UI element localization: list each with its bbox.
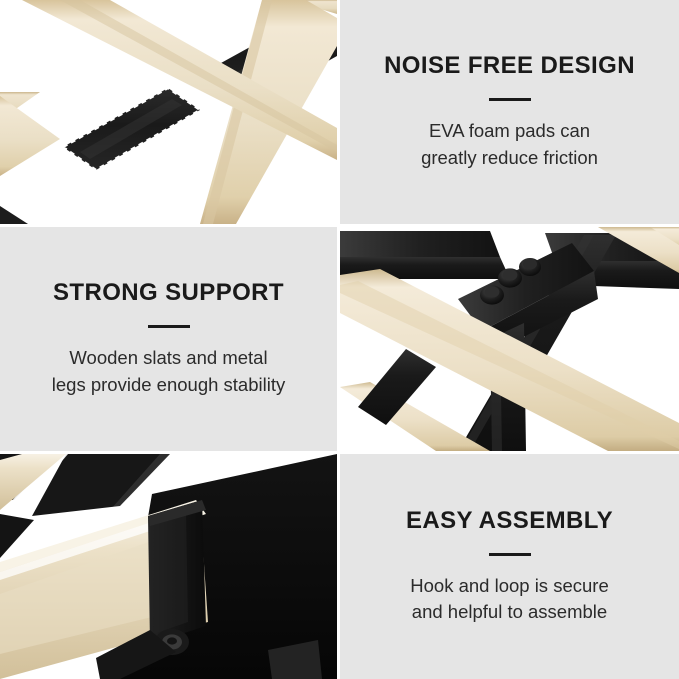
- photo-canvas: [0, 454, 337, 679]
- photo-canvas: [340, 227, 679, 451]
- photo-metal-cross-joint: [340, 227, 679, 451]
- photo-eva-foam-pad-on-slats: [0, 0, 337, 224]
- title-divider-rule: [489, 553, 531, 556]
- card-body-text: Hook and loop is secure and helpful to a…: [410, 573, 608, 626]
- card-body-text: Wooden slats and metal legs provide enou…: [52, 345, 285, 398]
- text-card: NOISE FREE DESIGN EVA foam pads can grea…: [340, 0, 679, 224]
- card-strong-support: STRONG SUPPORT Wooden slats and metal le…: [0, 227, 337, 451]
- card-title: STRONG SUPPORT: [53, 280, 284, 306]
- photo-canvas: [0, 0, 337, 224]
- metal-joint-illustration: [340, 227, 679, 451]
- product-feature-infographic: NOISE FREE DESIGN EVA foam pads can grea…: [0, 0, 679, 679]
- eva-foam-illustration: [0, 0, 337, 224]
- title-divider-rule: [489, 98, 531, 101]
- photo-hook-and-loop-strip: [0, 454, 337, 679]
- hook-loop-illustration: [0, 454, 337, 679]
- card-body-text: EVA foam pads can greatly reduce frictio…: [421, 118, 598, 171]
- hex-bolt-lower: [480, 285, 504, 304]
- text-card: STRONG SUPPORT Wooden slats and metal le…: [0, 227, 337, 451]
- title-divider-rule: [148, 325, 190, 328]
- card-title: EASY ASSEMBLY: [406, 508, 613, 534]
- hex-bolt-upper: [519, 258, 541, 276]
- card-title: NOISE FREE DESIGN: [384, 53, 635, 79]
- card-easy-assembly: EASY ASSEMBLY Hook and loop is secure an…: [340, 454, 679, 679]
- card-noise-free-design: NOISE FREE DESIGN EVA foam pads can grea…: [340, 0, 679, 224]
- hex-bolt-middle: [498, 268, 522, 287]
- text-card: EASY ASSEMBLY Hook and loop is secure an…: [340, 454, 679, 679]
